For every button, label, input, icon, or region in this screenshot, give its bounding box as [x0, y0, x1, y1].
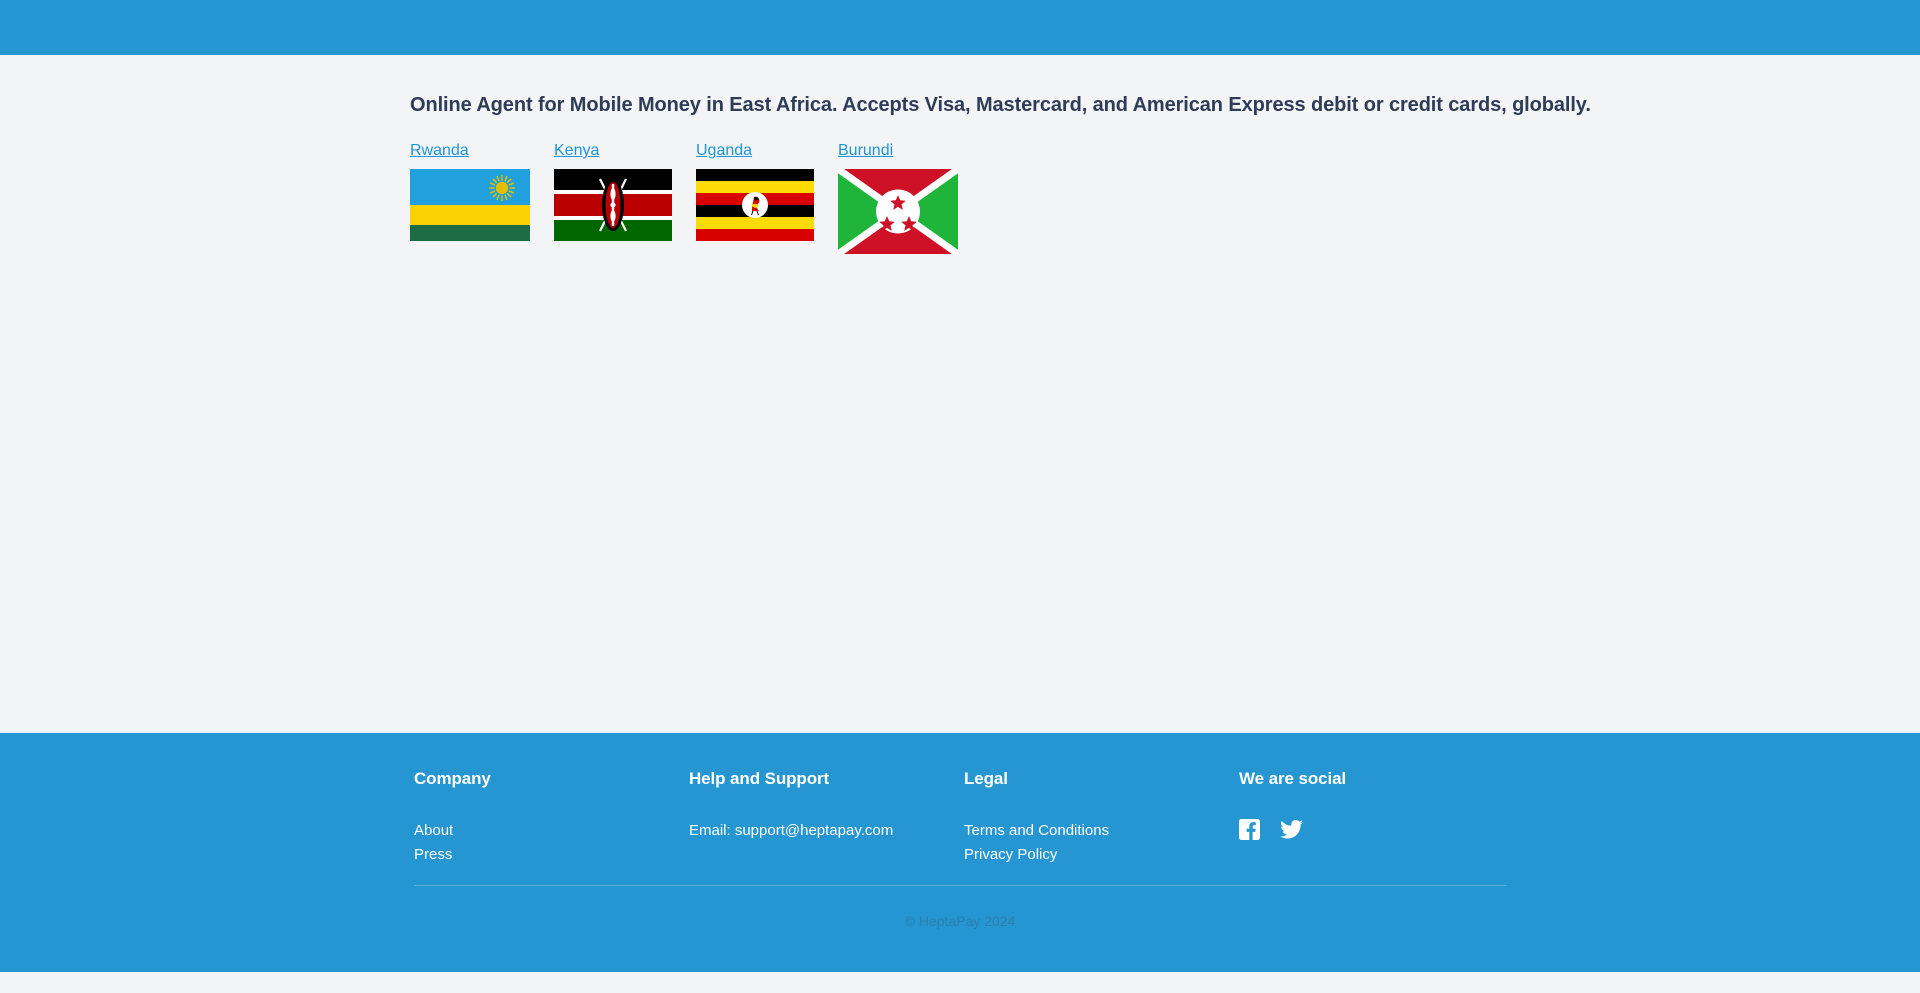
footer-link-press[interactable]: Press [414, 843, 689, 867]
footer-link-privacy[interactable]: Privacy Policy [964, 843, 1239, 867]
footer-column-social: We are social [1239, 769, 1507, 867]
flag-kenya-icon [554, 169, 672, 246]
country-link-uganda[interactable]: Uganda [696, 142, 752, 160]
footer-divider [414, 885, 1507, 886]
footer-column-company: Company About Press [414, 769, 689, 867]
footer-support-email[interactable]: Email: support@heptapay.com [689, 819, 964, 843]
country-item-rwanda: Rwanda [410, 142, 530, 246]
country-item-kenya: Kenya [554, 142, 672, 246]
flag-rwanda-icon [410, 169, 530, 246]
facebook-icon[interactable] [1239, 819, 1260, 840]
footer-copyright: © HeptaPay 2024 [0, 913, 1920, 929]
footer-help-title: Help and Support [689, 769, 964, 789]
social-icon-row [1239, 819, 1507, 840]
flag-burundi-icon [838, 169, 958, 259]
page-headline: Online Agent for Mobile Money in East Af… [410, 94, 1591, 117]
page-root: Online Agent for Mobile Money in East Af… [0, 0, 1920, 993]
country-list: Rwanda [410, 142, 958, 259]
footer-social-title: We are social [1239, 769, 1507, 789]
footer-column-legal: Legal Terms and Conditions Privacy Polic… [964, 769, 1239, 867]
footer-link-terms[interactable]: Terms and Conditions [964, 819, 1239, 843]
twitter-icon[interactable] [1280, 820, 1303, 839]
site-footer: Company About Press Help and Support Ema… [0, 733, 1920, 972]
footer-legal-title: Legal [964, 769, 1239, 789]
main-content: Online Agent for Mobile Money in East Af… [0, 55, 1920, 733]
flag-uganda-icon [696, 169, 814, 246]
country-item-uganda: Uganda [696, 142, 814, 246]
country-link-kenya[interactable]: Kenya [554, 142, 599, 160]
footer-column-help: Help and Support Email: support@heptapay… [689, 769, 964, 867]
country-link-rwanda[interactable]: Rwanda [410, 142, 469, 160]
country-item-burundi: Burundi [838, 142, 958, 259]
top-header-bar [0, 0, 1920, 55]
country-link-burundi[interactable]: Burundi [838, 142, 893, 160]
footer-link-about[interactable]: About [414, 819, 689, 843]
footer-columns: Company About Press Help and Support Ema… [414, 769, 1507, 867]
footer-company-title: Company [414, 769, 689, 789]
